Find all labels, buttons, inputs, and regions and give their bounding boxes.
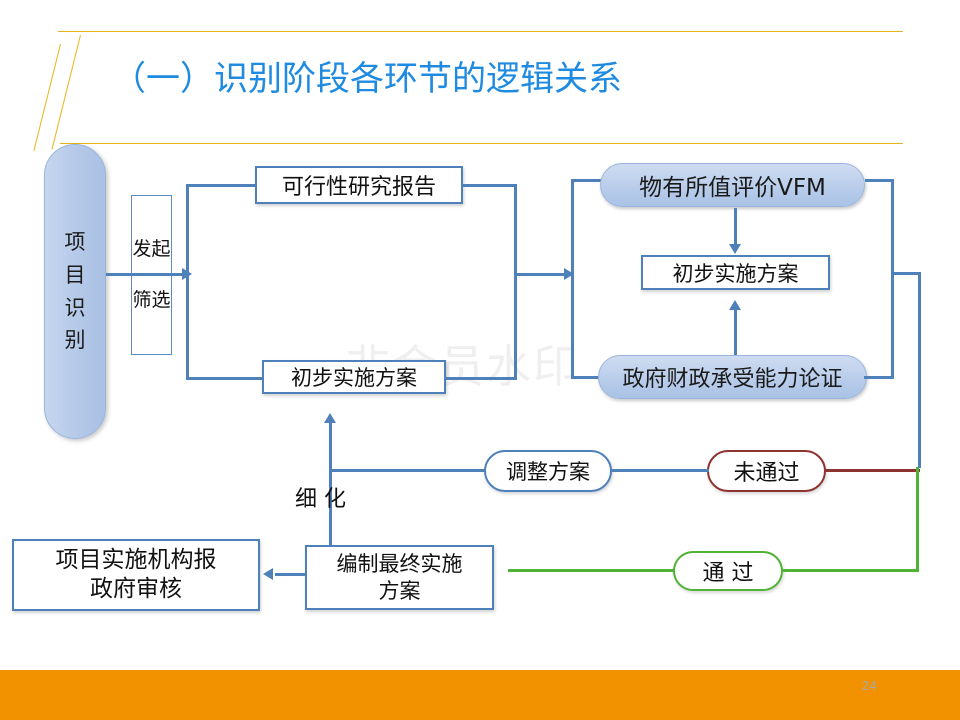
gate-label-top: 发起 (132, 239, 170, 260)
decorative-diagonal-2 (33, 44, 61, 151)
stage-char-1: 项 (65, 226, 86, 259)
connector-right-bracket-top (571, 179, 604, 182)
connector-mid-bottom-out (446, 377, 517, 380)
connector-decision-drop (918, 272, 921, 468)
submit-review-line-1: 项目实施机构报 (56, 546, 217, 575)
connector-left-bracket-vertical (186, 184, 189, 380)
connector-fiscal-out (864, 376, 894, 379)
connector-far-right-to-decision (891, 272, 921, 275)
label-refine: 细 化 (295, 481, 346, 513)
connector-vfm-out (865, 179, 894, 182)
arrow-fiscal-to-plan (729, 300, 741, 310)
connector-left-bracket-top (186, 184, 258, 187)
stage-char-2: 目 (65, 259, 86, 292)
connector-fiscal-to-plan (734, 308, 737, 355)
page-title: （一）识别阶段各环节的逻辑关系 (112, 58, 622, 100)
page-number: 24 (862, 678, 902, 693)
node-not-passed[interactable]: 未通过 (707, 450, 826, 492)
decorative-diagonal-1 (51, 35, 81, 150)
gate-label-bottom: 筛选 (132, 290, 170, 311)
connector-vfm-to-plan (734, 208, 737, 246)
connector-passed-to-final (508, 569, 675, 572)
stage-char-3: 识 (65, 292, 86, 325)
node-adjust-plan[interactable]: 调整方案 (484, 450, 612, 492)
connector-right-bracket-vertical (571, 179, 574, 379)
connector-far-right-bracket-vertical (891, 179, 894, 379)
node-submit-government-review[interactable]: 项目实施机构报 政府审核 (12, 539, 260, 611)
final-plan-line-1: 编制最终实施 (337, 551, 463, 577)
stage-char-4: 别 (65, 324, 86, 357)
submit-review-line-2: 政府审核 (90, 575, 182, 604)
arrow-vfm-to-plan (729, 244, 741, 254)
connector-notpassed-to-adjust (610, 469, 709, 472)
connector-mid-bracket-vertical (514, 184, 517, 380)
connector-mid-to-right-arrow (514, 273, 566, 276)
node-preliminary-plan-right[interactable]: 初步实施方案 (641, 255, 830, 290)
node-preliminary-plan-left[interactable]: 初步实施方案 (262, 360, 446, 394)
top-gold-rule (58, 31, 903, 32)
header-gold-rule (60, 143, 903, 144)
connector-passed-riser (916, 467, 919, 571)
arrow-refine-to-plan (324, 413, 336, 423)
node-final-plan[interactable]: 编制最终实施 方案 (305, 545, 494, 610)
slide-canvas: 24 （一）识别阶段各环节的逻辑关系 非会员水印 项 目 识 别 发起 筛选 可… (0, 0, 960, 720)
connector-mid-top-out (463, 184, 517, 187)
arrow-final-to-submit (263, 568, 273, 580)
node-project-identification[interactable]: 项 目 识 别 (44, 144, 106, 439)
node-fiscal-capacity[interactable]: 政府财政承受能力论证 (598, 355, 867, 399)
connector-final-to-submit (275, 573, 307, 576)
node-feasibility-report[interactable]: 可行性研究报告 (255, 166, 463, 204)
node-vfm-evaluation[interactable]: 物有所值评价VFM (600, 163, 865, 207)
node-passed[interactable]: 通 过 (673, 551, 783, 591)
footer-bar (0, 670, 960, 720)
connector-passed-right (781, 569, 919, 572)
connector-adjust-to-refine (330, 469, 486, 472)
final-plan-line-2: 方案 (379, 578, 421, 604)
connector-left-bracket-bottom (186, 377, 262, 380)
connector-notpassed-right (824, 469, 920, 472)
connector-stage-to-bracket (106, 273, 184, 276)
